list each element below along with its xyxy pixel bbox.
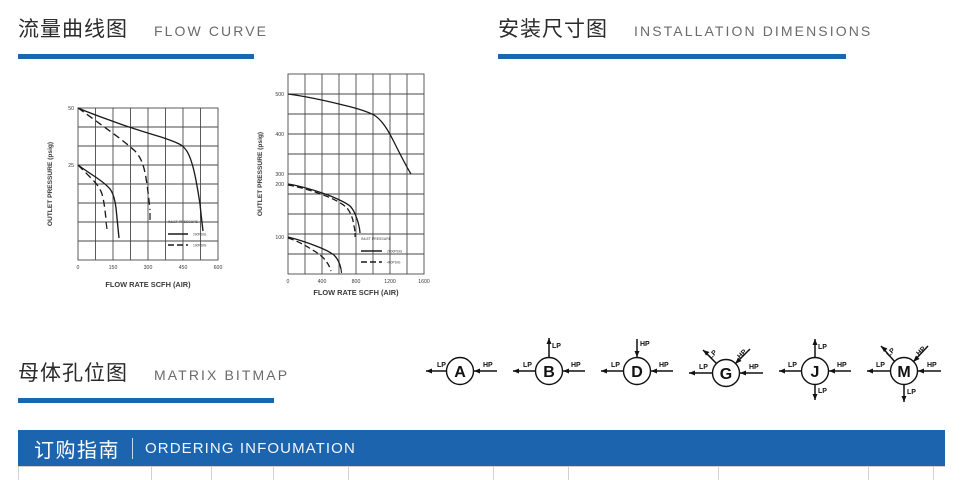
chart-legend: INLET PRESSURE 200PSIG 100PSIG bbox=[168, 220, 207, 248]
arrow-up-icon bbox=[547, 338, 552, 344]
svg-text:100PSIG: 100PSIG bbox=[193, 244, 207, 248]
matrix-symbol-M: M LP HP LP HP bbox=[859, 333, 949, 403]
port-right bbox=[918, 369, 941, 374]
port-left bbox=[426, 369, 446, 374]
chart-svg: 500 400 300 200 100 0 400 800 1200 1600 … bbox=[248, 62, 444, 300]
arrow-down-icon bbox=[813, 394, 818, 400]
section-header-installation-dimensions: 安装尺寸图 INSTALLATION DIMENSIONS bbox=[498, 14, 846, 59]
matrix-symbol-A: A LP HP bbox=[415, 333, 505, 403]
port-right bbox=[563, 369, 585, 374]
section-title-cn: 安装尺寸图 bbox=[498, 14, 608, 46]
table-cell[interactable] bbox=[212, 467, 274, 480]
table-cell[interactable] bbox=[869, 467, 934, 480]
port-left bbox=[601, 369, 623, 374]
port-right bbox=[474, 369, 497, 374]
svg-text:1600: 1600 bbox=[418, 279, 430, 285]
svg-text:1200: 1200 bbox=[384, 279, 396, 285]
section-header-row: 母体孔位图 MATRIX BITMAP bbox=[18, 358, 274, 392]
port-down bbox=[902, 385, 907, 402]
section-title-en: MATRIX BITMAP bbox=[154, 359, 289, 391]
svg-text:200PSIG: 200PSIG bbox=[193, 233, 207, 237]
arrow-right-icon bbox=[474, 369, 480, 374]
ordering-spec-table bbox=[18, 466, 945, 480]
chart-series-dashed bbox=[288, 185, 355, 271]
port-up bbox=[813, 339, 818, 357]
port-label-right: HP bbox=[571, 362, 581, 369]
symbol-letter: B bbox=[543, 364, 555, 381]
arrow-left-icon bbox=[689, 371, 695, 376]
matrix-symbol-J: J LP LP HP LP bbox=[771, 333, 859, 403]
section-title-en: INSTALLATION DIMENSIONS bbox=[634, 15, 872, 47]
chart-gridlines bbox=[288, 74, 424, 274]
chart-legend: INLET PRESSURE 2000PSIG 400PSIG bbox=[361, 237, 403, 265]
port-label-left: LP bbox=[876, 362, 885, 369]
port-down bbox=[813, 385, 818, 400]
chart-svg: 50 25 0 150 300 450 600 OUTLET PRESSURE … bbox=[40, 68, 240, 300]
svg-text:400PSIG: 400PSIG bbox=[387, 261, 401, 265]
port-label-down: LP bbox=[907, 389, 916, 396]
port-left bbox=[867, 369, 890, 374]
svg-text:300: 300 bbox=[275, 172, 284, 178]
svg-text:800: 800 bbox=[352, 279, 361, 285]
table-cell[interactable] bbox=[152, 467, 212, 480]
port-label-right: HP bbox=[837, 362, 847, 369]
port-label-right: HP bbox=[483, 362, 493, 369]
port-label-diag-up-right: HP bbox=[736, 348, 748, 360]
flow-curve-chart-left: 50 25 0 150 300 450 600 OUTLET PRESSURE … bbox=[40, 68, 240, 300]
port-label-right: HP bbox=[659, 362, 669, 369]
section-underline bbox=[18, 398, 274, 403]
arrow-up-icon bbox=[813, 339, 818, 345]
banner-title-en: ORDERING INFOUMATION bbox=[145, 440, 356, 457]
svg-text:100: 100 bbox=[275, 235, 284, 241]
port-label-left: LP bbox=[611, 362, 620, 369]
port-right bbox=[740, 371, 763, 376]
port-label-right: HP bbox=[749, 364, 759, 371]
section-title-cn: 流量曲线图 bbox=[18, 14, 128, 46]
port-label-up: LP bbox=[552, 343, 561, 350]
svg-text:50: 50 bbox=[68, 106, 74, 112]
port-label-down: LP bbox=[818, 388, 827, 395]
svg-text:25: 25 bbox=[68, 163, 74, 169]
chart-x-axis-title: FLOW RATE SCFH (AIR) bbox=[313, 288, 399, 297]
symbol-letter: A bbox=[454, 364, 466, 381]
table-cell[interactable] bbox=[19, 467, 152, 480]
arrow-left-icon bbox=[426, 369, 432, 374]
symbol-letter: J bbox=[811, 364, 820, 381]
section-title-en: FLOW CURVE bbox=[154, 15, 268, 47]
svg-text:2000PSIG: 2000PSIG bbox=[387, 250, 403, 254]
table-cell[interactable] bbox=[569, 467, 719, 480]
matrix-symbol-row: A LP HP B LP bbox=[415, 333, 945, 403]
section-header-row: 安装尺寸图 INSTALLATION DIMENSIONS bbox=[498, 14, 846, 48]
arrow-down-icon bbox=[635, 351, 640, 357]
section-header-matrix-bitmap: 母体孔位图 MATRIX BITMAP bbox=[18, 358, 274, 403]
arrow-left-icon bbox=[601, 369, 607, 374]
arrow-left-icon bbox=[779, 369, 785, 374]
port-label-top: HP bbox=[640, 341, 650, 348]
port-left bbox=[779, 369, 801, 374]
port-top bbox=[635, 339, 640, 357]
port-label-diag-up-left: LP bbox=[707, 349, 719, 361]
port-left bbox=[689, 371, 712, 376]
matrix-symbol-B: B LP LP HP bbox=[505, 333, 593, 403]
svg-text:150: 150 bbox=[109, 265, 118, 271]
port-label-diag-up-right: HP bbox=[915, 345, 927, 357]
arrow-right-icon bbox=[918, 369, 924, 374]
arrow-right-icon bbox=[829, 369, 835, 374]
port-label-left: LP bbox=[523, 362, 532, 369]
arrow-right-icon bbox=[563, 369, 569, 374]
svg-text:400: 400 bbox=[318, 279, 327, 285]
port-label-right: HP bbox=[927, 362, 937, 369]
arrow-right-icon bbox=[740, 371, 746, 376]
arrow-left-icon bbox=[513, 369, 519, 374]
chart-x-tick-labels: 0 400 800 1200 1600 bbox=[287, 279, 430, 285]
section-header-flow-curve: 流量曲线图 FLOW CURVE bbox=[18, 14, 254, 59]
chart-x-tick-labels: 0 150 300 450 600 bbox=[77, 265, 223, 271]
banner-divider bbox=[132, 438, 133, 459]
svg-text:450: 450 bbox=[179, 265, 188, 271]
svg-text:200: 200 bbox=[275, 182, 284, 188]
ordering-information-banner: 订购指南 ORDERING INFOUMATION bbox=[18, 430, 945, 466]
chart-y-axis-title: OUTLET PRESSURE (psig) bbox=[47, 142, 54, 226]
chart-series-dashed bbox=[78, 108, 150, 219]
arrow-right-icon bbox=[651, 369, 657, 374]
banner-title-cn: 订购指南 bbox=[34, 434, 120, 463]
section-title-cn: 母体孔位图 bbox=[18, 358, 128, 390]
symbol-letter: G bbox=[720, 366, 732, 383]
flow-curve-chart-right: 500 400 300 200 100 0 400 800 1200 1600 … bbox=[248, 62, 444, 300]
port-label-left: LP bbox=[699, 364, 708, 371]
matrix-symbol-D: D HP LP HP bbox=[593, 333, 681, 403]
table-cell[interactable] bbox=[349, 467, 494, 480]
chart-x-axis-title: FLOW RATE SCFH (AIR) bbox=[105, 280, 191, 289]
section-header-row: 流量曲线图 FLOW CURVE bbox=[18, 14, 254, 48]
chart-series-tails bbox=[341, 233, 355, 273]
svg-text:500: 500 bbox=[275, 92, 284, 98]
svg-text:INLET PRESSURE: INLET PRESSURE bbox=[168, 220, 199, 224]
arrow-down-icon bbox=[902, 396, 907, 402]
port-up bbox=[547, 338, 552, 357]
port-right bbox=[651, 369, 673, 374]
section-underline bbox=[18, 54, 254, 59]
chart-series-solid bbox=[288, 94, 411, 269]
matrix-symbol-G: G LP HP LP HP bbox=[681, 333, 771, 403]
port-label-left: LP bbox=[788, 362, 797, 369]
chart-y-tick-labels: 500 400 300 200 100 bbox=[275, 92, 284, 241]
table-cell[interactable] bbox=[719, 467, 869, 480]
svg-text:INLET PRESSURE: INLET PRESSURE bbox=[361, 237, 392, 241]
table-cell[interactable] bbox=[494, 467, 569, 480]
chart-y-tick-labels: 50 25 bbox=[68, 106, 74, 169]
chart-series-solid bbox=[78, 108, 203, 238]
svg-text:300: 300 bbox=[144, 265, 153, 271]
port-right bbox=[829, 369, 851, 374]
symbol-letter: D bbox=[631, 364, 643, 381]
svg-text:0: 0 bbox=[77, 265, 80, 271]
port-label-left: LP bbox=[437, 362, 446, 369]
chart-y-axis-title: OUTLET PRESSURE (psig) bbox=[257, 132, 264, 216]
svg-text:600: 600 bbox=[214, 265, 223, 271]
port-left bbox=[513, 369, 535, 374]
arrow-left-icon bbox=[867, 369, 873, 374]
svg-text:0: 0 bbox=[287, 279, 290, 285]
port-label-up: LP bbox=[818, 344, 827, 351]
table-cell[interactable] bbox=[274, 467, 349, 480]
svg-text:400: 400 bbox=[275, 132, 284, 138]
symbol-letter: M bbox=[897, 364, 910, 381]
section-underline bbox=[498, 54, 846, 59]
